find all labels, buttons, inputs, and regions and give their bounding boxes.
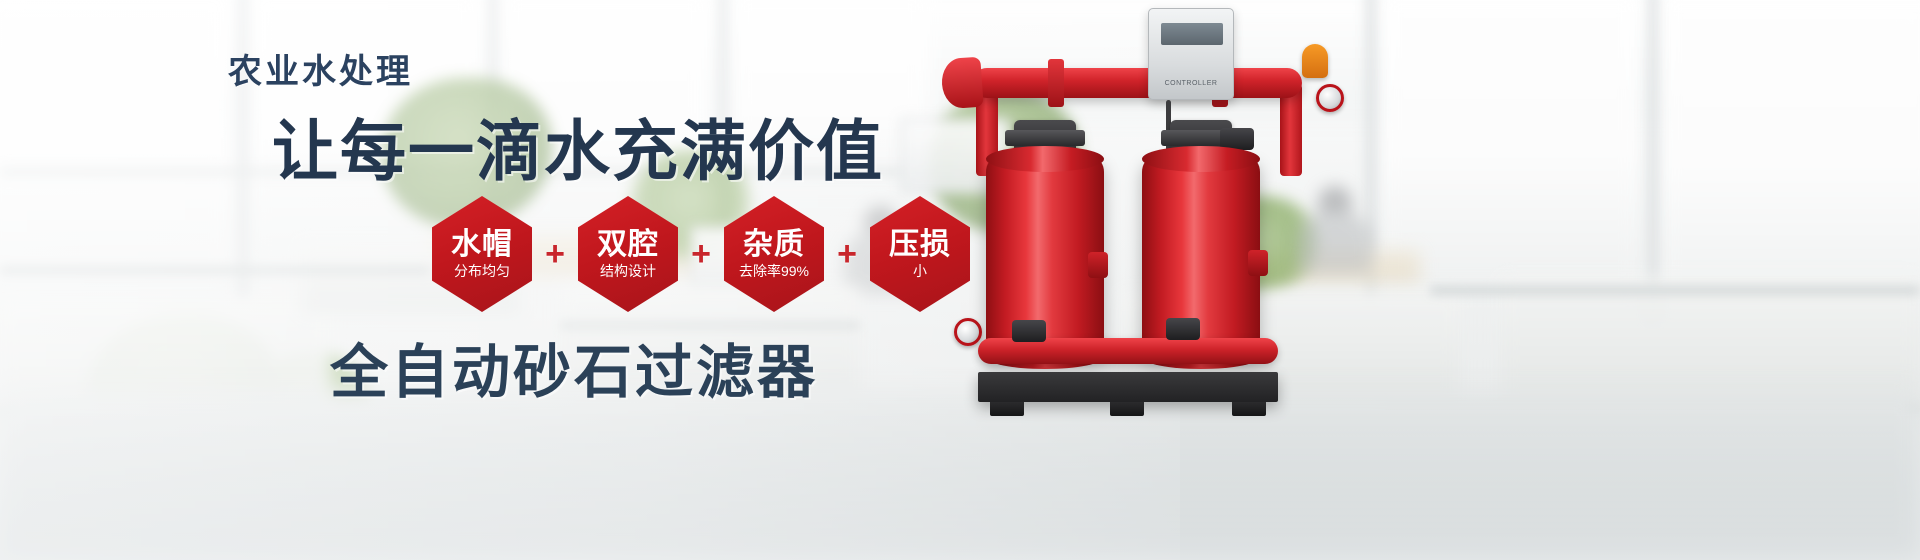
headline-text: 让每一滴水充满价值 bbox=[272, 98, 884, 194]
banner-copy: 农业水处理 让每一滴水充满价值 水帽 分布均匀 + 双腔 结构设计 + 杂质 去… bbox=[0, 0, 1180, 560]
promo-banner: CONTROLLER 农业水处理 让每一滴水充满价值 水帽 分布均匀 + bbox=[0, 0, 1920, 560]
plus-separator-3: + bbox=[824, 237, 870, 271]
plus-separator-2: + bbox=[678, 237, 724, 271]
feature-badge-row: 水帽 分布均匀 + 双腔 结构设计 + 杂质 去除率99% + 压损 小 bbox=[432, 196, 970, 312]
feature-badge-1: 水帽 分布均匀 bbox=[432, 196, 532, 312]
eyebrow-text: 农业水处理 bbox=[228, 44, 413, 93]
badge-4-title: 压损 bbox=[889, 229, 951, 261]
pressure-gauge-top bbox=[1316, 84, 1344, 112]
badge-3-subtitle: 去除率99% bbox=[739, 264, 809, 279]
badge-1-subtitle: 分布均匀 bbox=[454, 264, 510, 279]
badge-1-title: 水帽 bbox=[451, 229, 513, 261]
feature-badge-4: 压损 小 bbox=[870, 196, 970, 312]
badge-2-title: 双腔 bbox=[597, 229, 659, 261]
air-release-valve bbox=[1302, 44, 1328, 78]
badge-2-subtitle: 结构设计 bbox=[600, 264, 656, 279]
badge-3-title: 杂质 bbox=[743, 229, 805, 261]
product-name-text: 全自动砂石过滤器 bbox=[330, 325, 818, 409]
plus-separator-1: + bbox=[532, 237, 578, 271]
feature-badge-2: 双腔 结构设计 bbox=[578, 196, 678, 312]
feature-badge-3: 杂质 去除率99% bbox=[724, 196, 824, 312]
badge-4-subtitle: 小 bbox=[913, 264, 927, 279]
